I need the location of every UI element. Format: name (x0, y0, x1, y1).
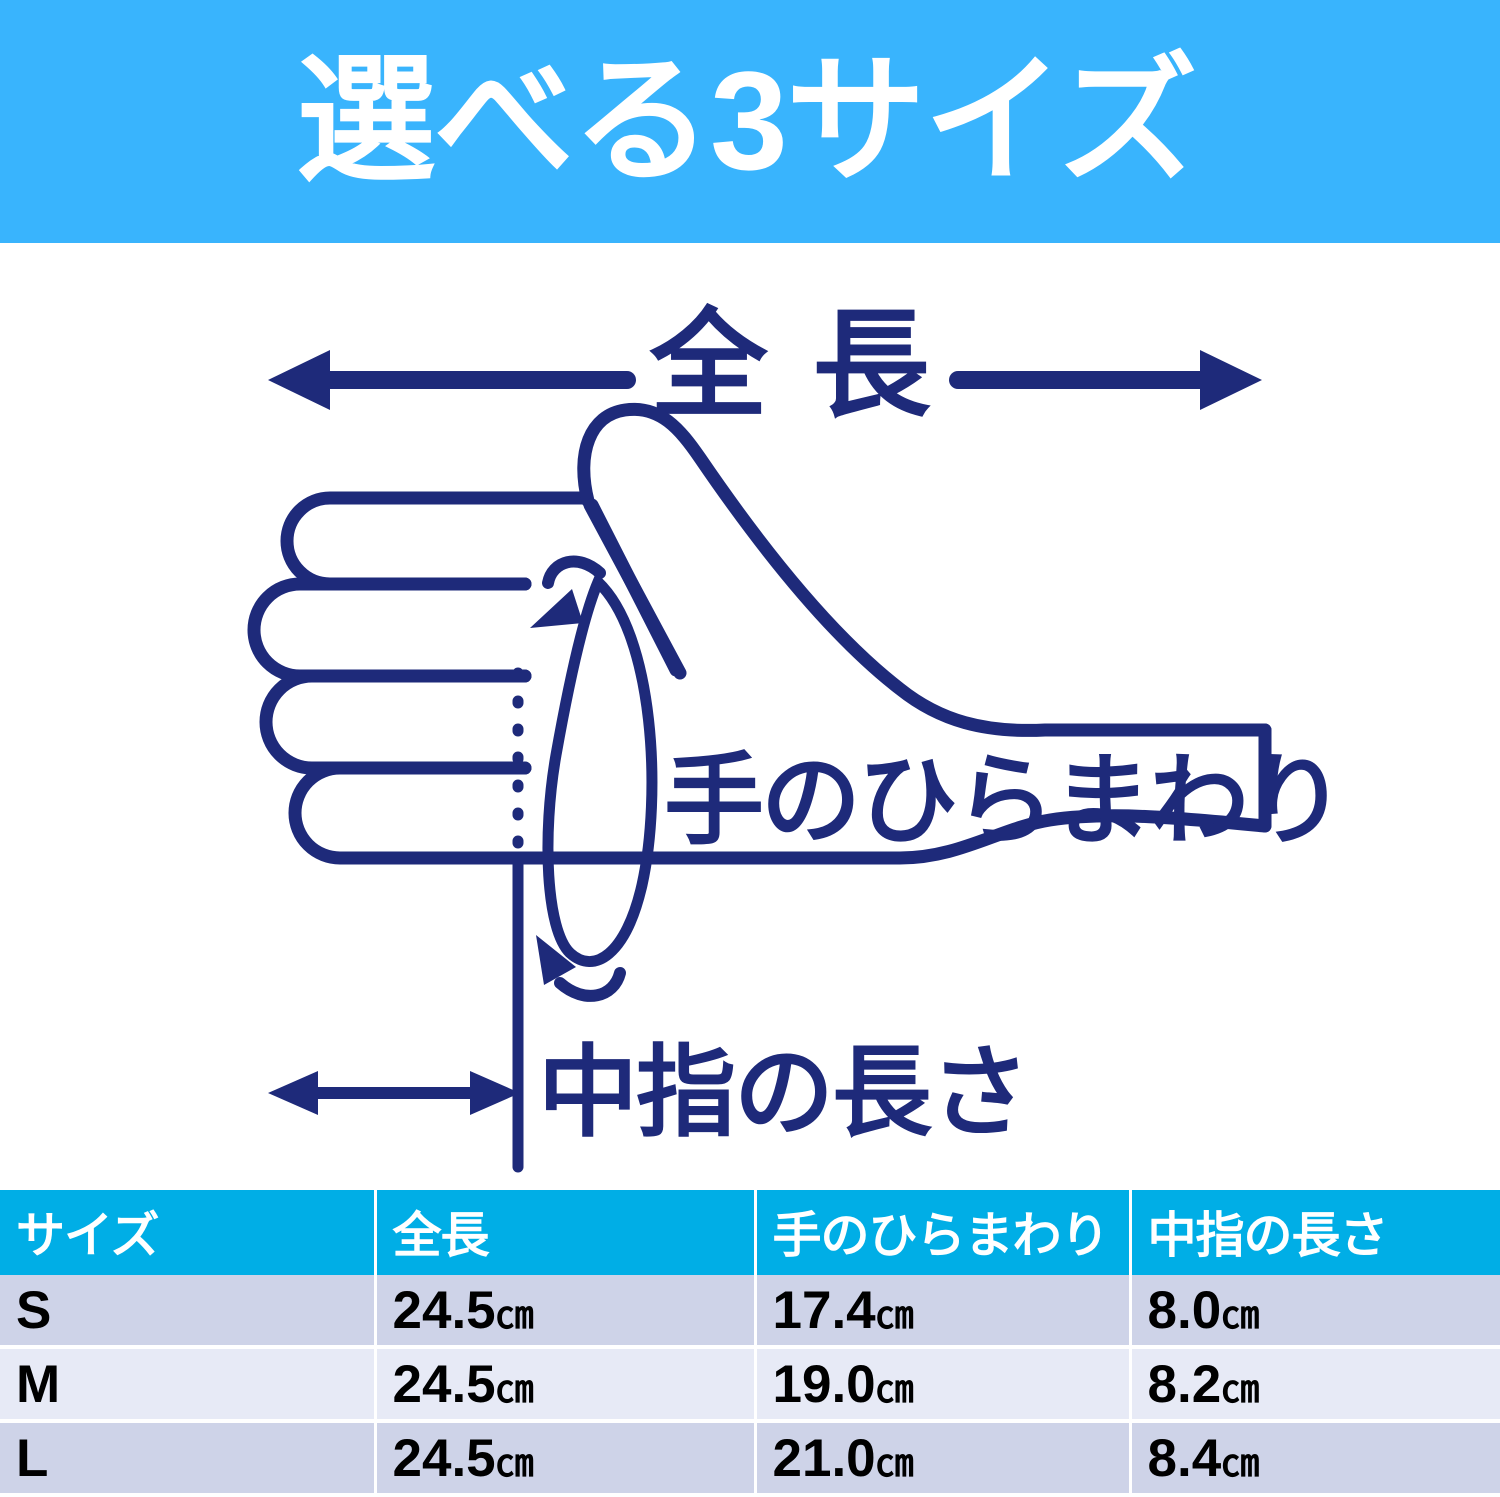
value-palm: 21.0 (773, 1429, 876, 1488)
value-finger: 8.2 (1148, 1355, 1222, 1414)
cell-size: S (0, 1275, 375, 1347)
cell-palm: 21.0㎝ (755, 1421, 1130, 1493)
palm-circumference-ellipse (548, 582, 652, 962)
table-header-row: サイズ 全長 手のひらまわり 中指の長さ (0, 1190, 1500, 1275)
page-title: 選べる3サイズ (296, 36, 1196, 206)
cell-palm: 17.4㎝ (755, 1275, 1130, 1347)
unit-cm: ㎝ (1221, 1295, 1258, 1337)
cell-size: M (0, 1347, 375, 1421)
column-header-size: サイズ (0, 1190, 375, 1275)
column-header-finger: 中指の長さ (1130, 1190, 1500, 1275)
table-row: S 24.5㎝ 17.4㎝ 8.0㎝ (0, 1275, 1500, 1347)
value-total-length: 24.5 (393, 1429, 496, 1488)
palm-circumference-label: 手のひらまわり (664, 745, 1343, 857)
column-header-total-length: 全長 (375, 1190, 755, 1275)
size-table: サイズ 全長 手のひらまわり 中指の長さ S 24.5㎝ 17.4㎝ 8.0㎝ … (0, 1190, 1500, 1493)
middle-finger-length-arrow (268, 1071, 520, 1115)
unit-cm: ㎝ (496, 1369, 533, 1411)
total-length-arrow-right (958, 350, 1262, 410)
unit-cm: ㎝ (1221, 1443, 1258, 1485)
unit-cm: ㎝ (876, 1369, 913, 1411)
total-length-label: 全 長 (649, 300, 937, 432)
unit-cm: ㎝ (876, 1295, 913, 1337)
column-header-palm: 手のひらまわり (755, 1190, 1130, 1275)
cell-finger: 8.0㎝ (1130, 1275, 1500, 1347)
value-total-length: 24.5 (393, 1355, 496, 1414)
circumference-arrow-bottom (536, 935, 620, 996)
cell-total-length: 24.5㎝ (375, 1421, 755, 1493)
value-finger: 8.4 (1148, 1429, 1222, 1488)
value-total-length: 24.5 (393, 1281, 496, 1340)
header-banner: 選べる3サイズ (0, 0, 1500, 243)
cell-total-length: 24.5㎝ (375, 1347, 755, 1421)
unit-cm: ㎝ (496, 1443, 533, 1485)
total-length-arrow-left (268, 350, 627, 410)
unit-cm: ㎝ (1221, 1369, 1258, 1411)
value-palm: 17.4 (773, 1281, 876, 1340)
cell-finger: 8.2㎝ (1130, 1347, 1500, 1421)
table-row: M 24.5㎝ 19.0㎝ 8.2㎝ (0, 1347, 1500, 1421)
unit-cm: ㎝ (496, 1295, 533, 1337)
middle-finger-length-label: 中指の長さ (538, 1037, 1028, 1149)
value-finger: 8.0 (1148, 1281, 1222, 1340)
value-palm: 19.0 (773, 1355, 876, 1414)
unit-cm: ㎝ (876, 1443, 913, 1485)
glove-measurement-diagram: 全 長 (0, 243, 1500, 1190)
cell-size: L (0, 1421, 375, 1493)
cell-palm: 19.0㎝ (755, 1347, 1130, 1421)
table-row: L 24.5㎝ 21.0㎝ 8.4㎝ (0, 1421, 1500, 1493)
cell-total-length: 24.5㎝ (375, 1275, 755, 1347)
cell-finger: 8.4㎝ (1130, 1421, 1500, 1493)
